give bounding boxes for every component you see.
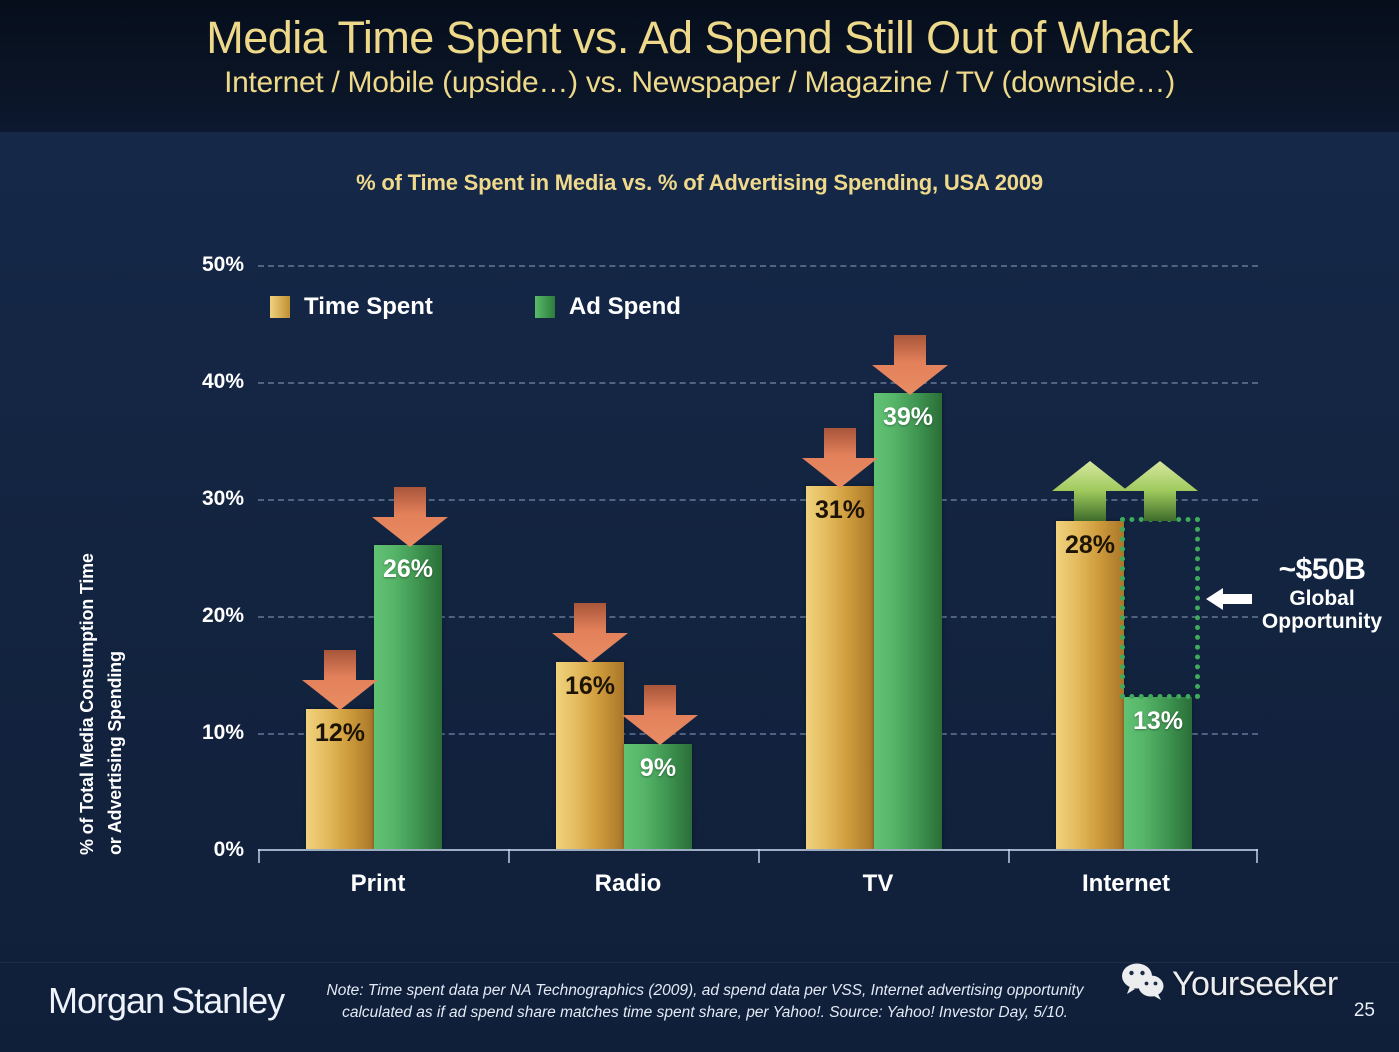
x-axis-tick-radio-tv (758, 849, 760, 863)
opportunity-box (1120, 517, 1200, 699)
callout-line2: Opportunity (1247, 610, 1397, 634)
x-label-tv: TV (758, 870, 998, 898)
down-arrow-print-time-spent (298, 650, 382, 712)
x-axis-tick-print-radio (508, 849, 510, 863)
x-axis-tick-end (1256, 849, 1258, 863)
opportunity-callout: ~$50B Global Opportunity (1247, 553, 1397, 634)
watermark-text: Yourseeker (1172, 965, 1338, 1004)
gridline-40 (258, 382, 1258, 384)
bar-tv-time-spent: 31% (806, 486, 874, 849)
legend: Time Spent Ad Spend (270, 293, 681, 321)
legend-swatch-time-spent (270, 296, 290, 318)
footer-divider (0, 962, 1399, 963)
up-arrow-internet-ad-spend (1118, 461, 1202, 523)
morgan-stanley-logo: MorganStanley (48, 980, 284, 1022)
down-arrow-print-ad-spend (368, 487, 452, 549)
legend-label-ad-spend: Ad Spend (569, 293, 681, 321)
bar-value-tv-time-spent: 31% (806, 496, 874, 525)
bar-value-radio-time-spent: 16% (556, 672, 624, 701)
bar-internet-ad-spend: 13% (1124, 697, 1192, 849)
callout-arrow-icon (1206, 586, 1252, 612)
y-tick-40: 40% (202, 370, 244, 394)
callout-line1: Global (1247, 587, 1397, 611)
bar-value-internet-time-spent: 28% (1056, 531, 1124, 560)
legend-label-time-spent: Time Spent (304, 293, 433, 321)
y-tick-30: 30% (202, 487, 244, 511)
bar-internet-time-spent: 28% (1056, 521, 1124, 849)
bar-value-print-time-spent: 12% (306, 719, 374, 748)
x-label-internet: Internet (1006, 870, 1246, 898)
down-arrow-tv-time-spent (798, 428, 882, 490)
legend-swatch-ad-spend (535, 296, 555, 318)
y-tick-0: 0% (214, 838, 244, 862)
y-tick-10: 10% (202, 721, 244, 745)
gridline-50 (258, 265, 1258, 267)
y-tick-20: 20% (202, 604, 244, 628)
bar-value-radio-ad-spend: 9% (624, 754, 692, 783)
source-note: Note: Time spent data per NA Technograph… (310, 980, 1100, 1025)
bar-radio-ad-spend: 9% (624, 744, 692, 849)
plot-area: Time Spent Ad Spend 12% 26% (258, 265, 1258, 849)
bar-value-print-ad-spend: 26% (374, 555, 442, 584)
down-arrow-tv-ad-spend (868, 335, 952, 397)
bar-value-internet-ad-spend: 13% (1124, 707, 1192, 736)
x-axis-tick-start (258, 849, 260, 863)
x-label-radio: Radio (508, 870, 748, 898)
y-tick-50: 50% (202, 253, 244, 277)
bar-radio-time-spent: 16% (556, 662, 624, 849)
bar-value-tv-ad-spend: 39% (874, 403, 942, 432)
bar-print-time-spent: 12% (306, 709, 374, 849)
down-arrow-radio-ad-spend (618, 685, 702, 747)
down-arrow-radio-time-spent (548, 603, 632, 665)
bar-print-ad-spend: 26% (374, 545, 442, 849)
bar-tv-ad-spend: 39% (874, 393, 942, 849)
wechat-icon (1120, 962, 1166, 1007)
watermark: Yourseeker (1120, 962, 1338, 1007)
callout-amount: ~$50B (1247, 553, 1397, 587)
x-axis-tick-tv-internet (1008, 849, 1010, 863)
x-label-print: Print (258, 870, 498, 898)
slide: Media Time Spent vs. Ad Spend Still Out … (0, 0, 1399, 1052)
page-number: 25 (1354, 1000, 1375, 1022)
y-axis-tick-labels: 50% 40% 30% 20% 10% 0% (0, 0, 258, 1052)
